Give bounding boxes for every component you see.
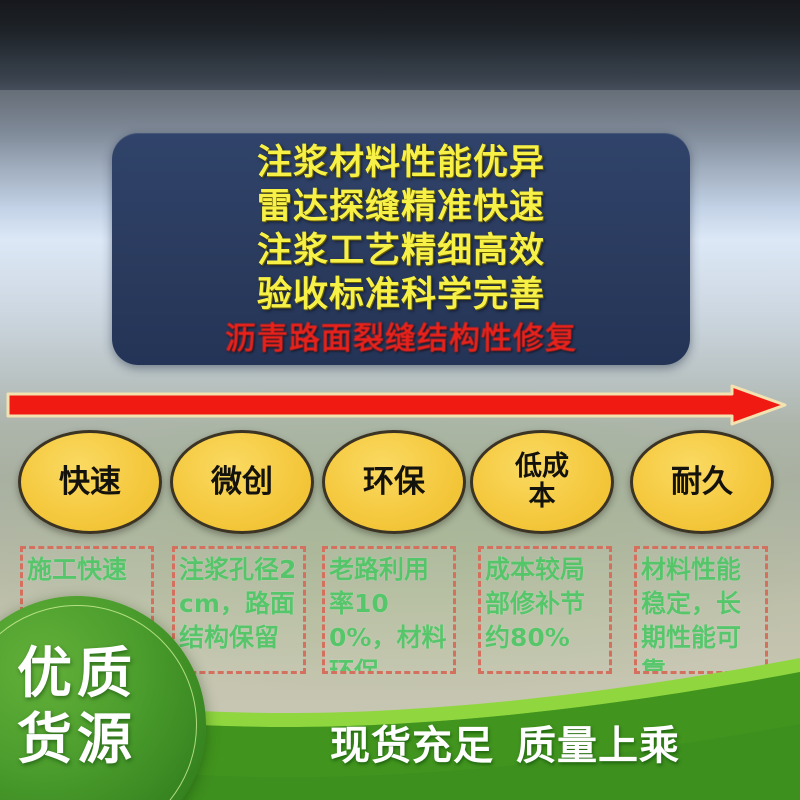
headline-line-4: 验收标准科学完善	[112, 273, 690, 317]
feature-badge-low-cost[interactable]: 低成本	[470, 430, 614, 534]
feature-badge-fast[interactable]: 快速	[18, 430, 162, 534]
quality-source-label: 优质 货源	[0, 640, 206, 772]
progress-arrow	[6, 384, 788, 426]
feature-badge-label: 低成本	[507, 452, 577, 512]
banner-slogan-left: 现货充足	[330, 723, 494, 769]
feature-badge-label: 快速	[51, 465, 129, 499]
feature-badge-minimally-invasive[interactable]: 微创	[170, 430, 314, 534]
feature-badge-label: 环保	[355, 465, 433, 499]
feature-badge-eco[interactable]: 环保	[322, 430, 466, 534]
quality-source-line-2: 货源	[0, 706, 206, 772]
banner-slogan: 现货充足质量上乘	[330, 713, 790, 771]
feature-badge-label: 微创	[203, 465, 281, 499]
badge-label-part-2: 本	[529, 481, 556, 512]
headline-line-1: 注浆材料性能优异	[112, 141, 690, 185]
headline-panel: 注浆材料性能优异 雷达探缝精准快速 注浆工艺精细高效 验收标准科学完善 沥青路面…	[112, 133, 690, 365]
quality-source-line-1: 优质	[0, 640, 206, 706]
headline-line-3: 注浆工艺精细高效	[112, 229, 690, 273]
feature-badge-label: 耐久	[663, 465, 741, 499]
headline-subline: 沥青路面裂缝结构性修复	[112, 319, 690, 359]
badge-label-part-1: 低成	[515, 451, 569, 482]
headline-lines: 注浆材料性能优异 雷达探缝精准快速 注浆工艺精细高效 验收标准科学完善 沥青路面…	[112, 141, 690, 359]
feature-badge-durable[interactable]: 耐久	[630, 430, 774, 534]
feature-badge-row: 快速 微创 环保 低成本 耐久	[0, 430, 800, 540]
headline-line-2: 雷达探缝精准快速	[112, 185, 690, 229]
detail-text: 施工快速	[23, 549, 151, 587]
right-arrow-icon	[6, 384, 788, 426]
poster-root: 注浆材料性能优异 雷达探缝精准快速 注浆工艺精细高效 验收标准科学完善 沥青路面…	[0, 0, 800, 800]
banner-slogan-right: 质量上乘	[516, 723, 680, 769]
